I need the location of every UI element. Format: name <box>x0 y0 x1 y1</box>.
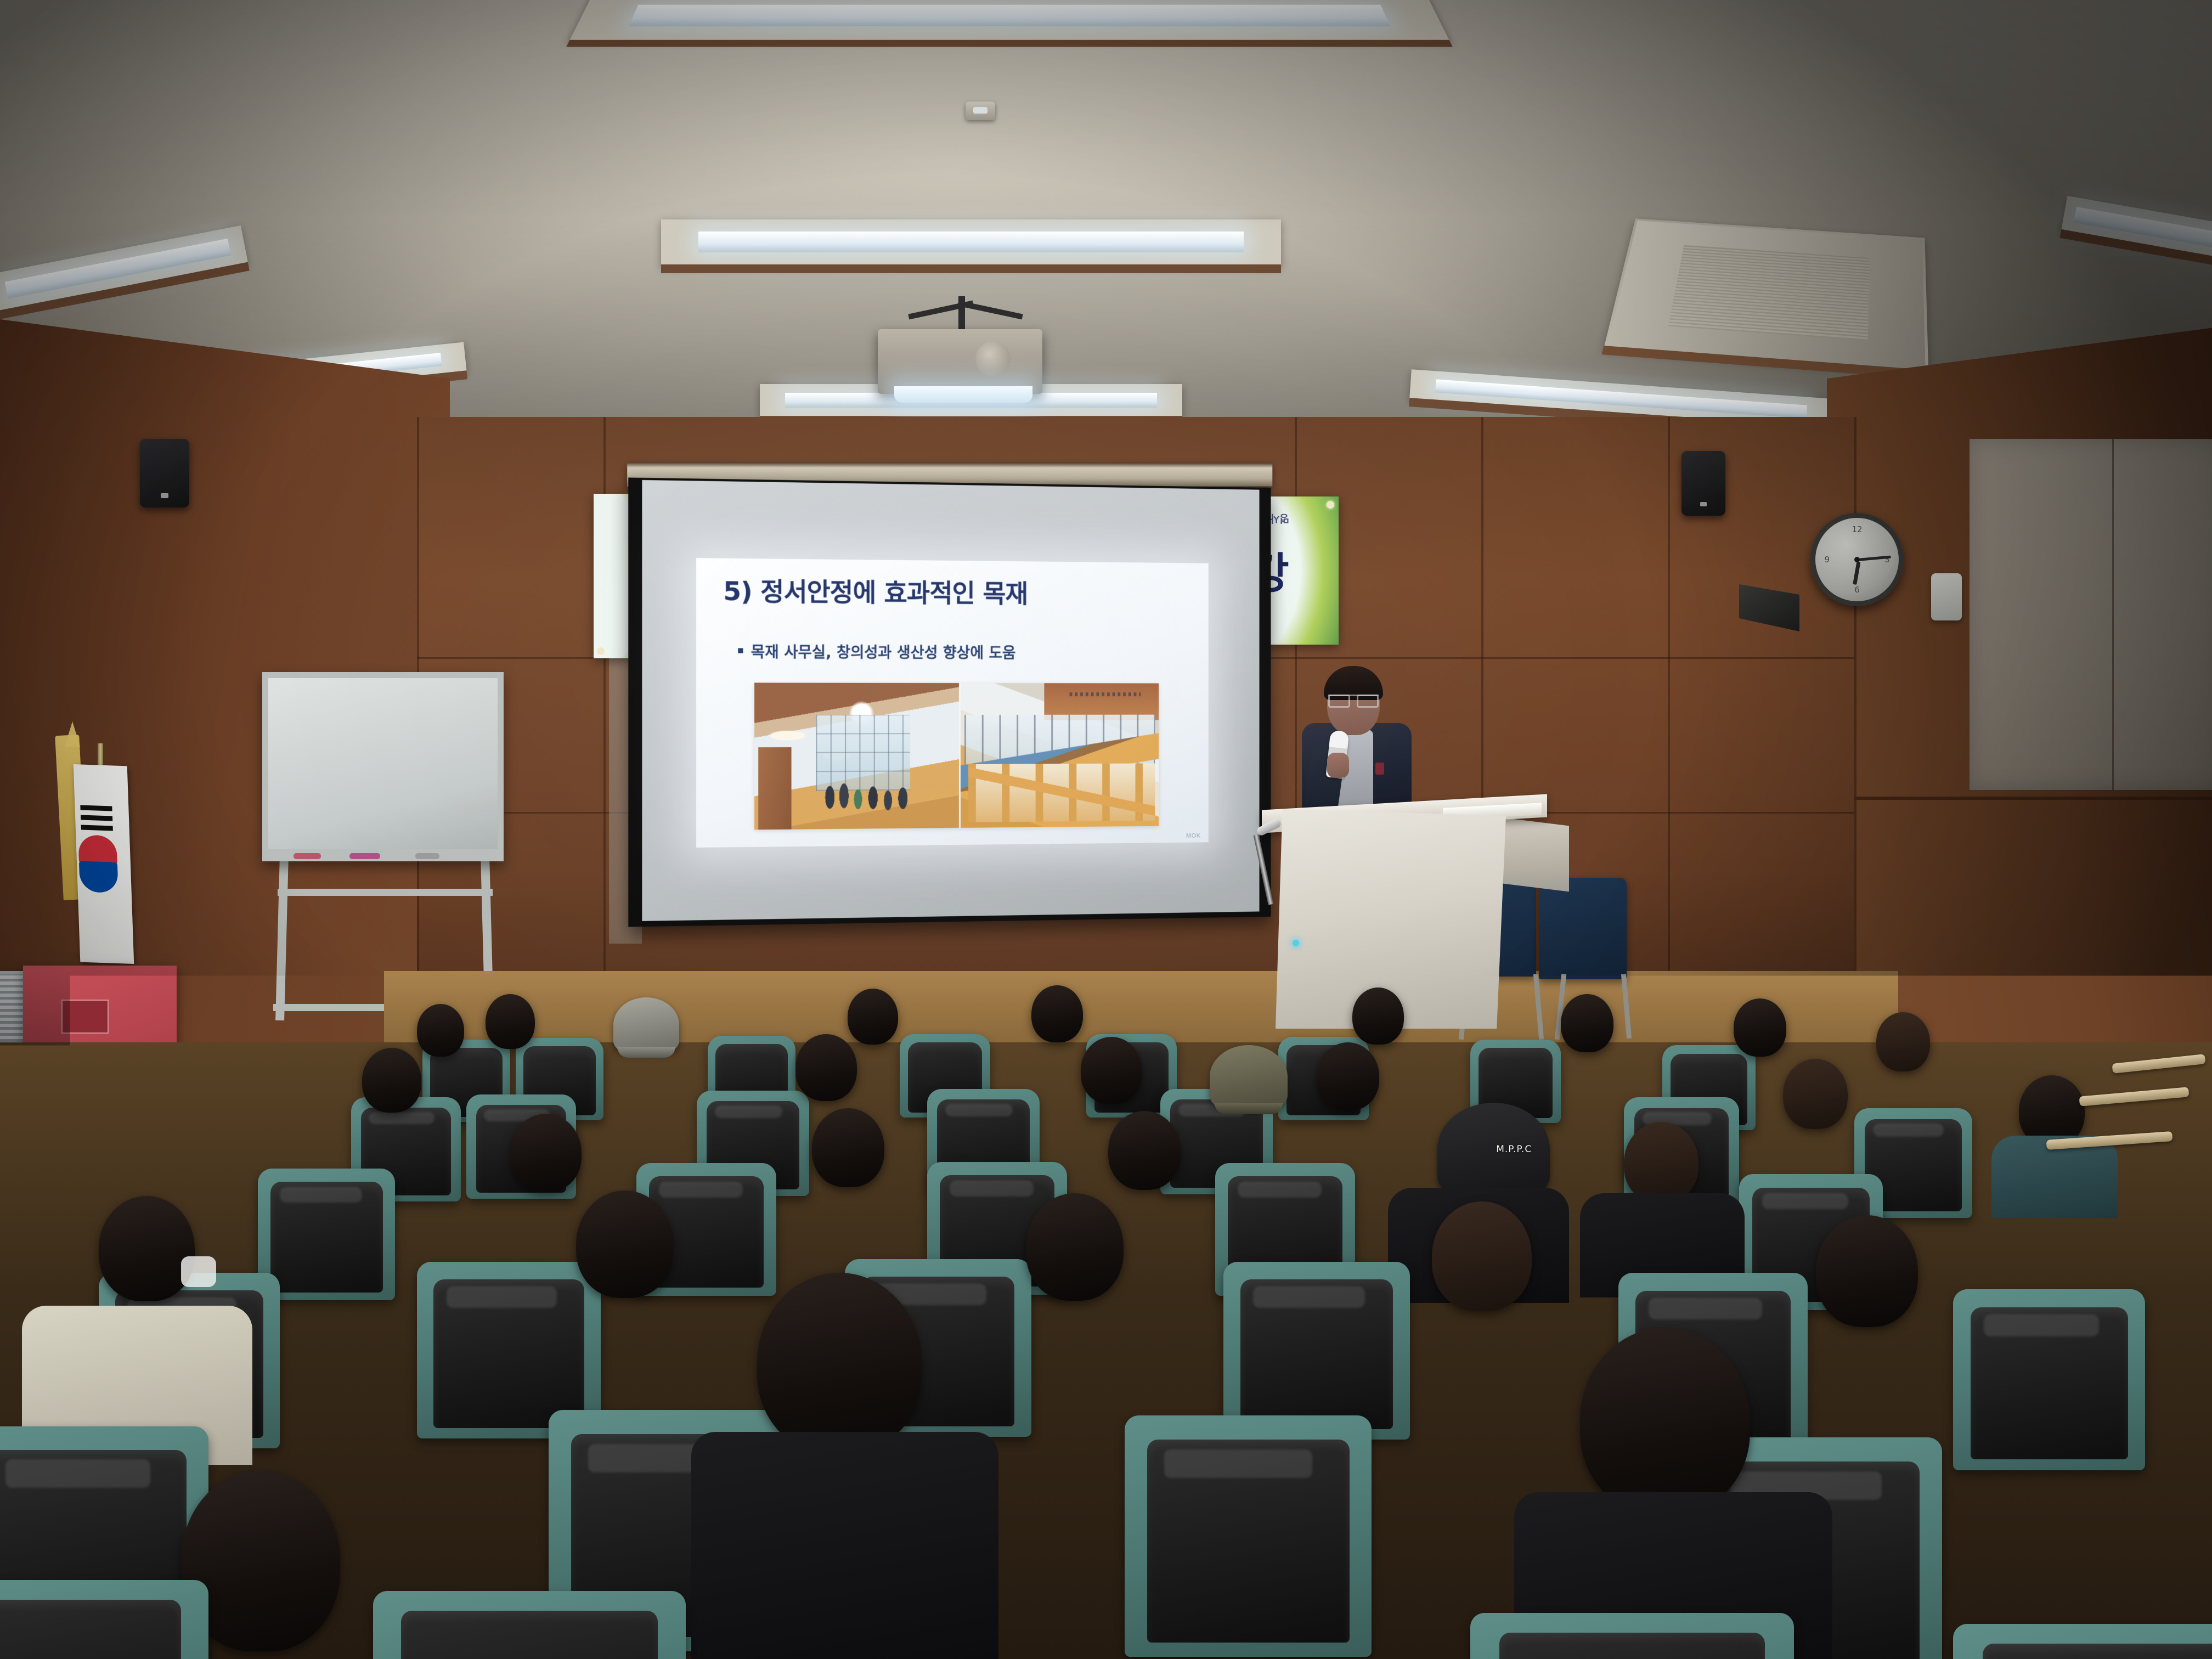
whiteboard-marker-grey[interactable] <box>415 853 439 859</box>
photo-timber-beams <box>968 763 1155 822</box>
audience-head <box>576 1190 674 1298</box>
ceiling-projector <box>878 329 1042 394</box>
projector-lens <box>975 341 1011 376</box>
slide-photo-wooden-atrium <box>754 682 959 830</box>
audience-head <box>1561 994 1613 1052</box>
slide-photo-wooden-mezzanine <box>961 683 1159 828</box>
audience-cap-olive <box>1210 1045 1288 1109</box>
audience-head <box>812 1108 884 1187</box>
projection-screen-surface: 5) 정서안정에 효과적인 목재 목재 사무실, 창의성과 생산성 향상에 도움 <box>642 480 1259 921</box>
audience-cap-mppc: M.P.P.C <box>1437 1103 1550 1196</box>
seat[interactable] <box>0 1580 208 1659</box>
audience-cap-grey <box>613 997 679 1052</box>
flag-trigram-bar <box>81 815 112 821</box>
audience-head <box>795 1034 857 1101</box>
audience-head <box>417 1004 464 1057</box>
clock-hour-hand <box>1853 561 1860 585</box>
audience-head <box>1081 1037 1142 1104</box>
audience-head <box>1783 1059 1848 1129</box>
fluorescent-tube <box>698 232 1244 252</box>
seat[interactable] <box>1953 1624 2212 1659</box>
seat[interactable] <box>373 1591 686 1659</box>
clock-number: 9 <box>1824 555 1830 565</box>
ceiling-air-vent-right <box>1604 218 1928 374</box>
smoke-detector <box>966 101 995 120</box>
vent-grille <box>1668 245 1870 341</box>
slide-title: 5) 정서안정에 효과적인 목재 <box>723 578 1194 607</box>
stage-chair-right[interactable] <box>1539 878 1627 979</box>
seat[interactable] <box>1223 1262 1410 1440</box>
audience-head-front-center <box>757 1273 922 1454</box>
mobile-whiteboard[interactable] <box>262 672 504 861</box>
ceiling-light-fixture-center <box>661 219 1281 267</box>
slide-credit-text: MOK <box>1186 833 1201 839</box>
audience-head <box>1624 1122 1699 1203</box>
flag-taeguk-red <box>78 834 117 865</box>
fixture-wood-trim <box>566 40 1453 47</box>
audience-head <box>486 994 535 1049</box>
light-switch-panel[interactable] <box>1931 573 1962 620</box>
cabinet-label <box>61 1000 109 1034</box>
audience-head <box>1317 1042 1379 1110</box>
audience-head <box>362 1048 421 1113</box>
lecture-hall-photo: 12 3 6 9 강 명사특강 5) 정서안정에 효과적인 목재 목재 사무실,… <box>0 0 2212 1659</box>
bullet-dot-icon <box>738 648 743 653</box>
wall-speaker-right <box>1681 451 1725 516</box>
banner-pin <box>597 647 605 655</box>
podium-indicator-led <box>1293 940 1299 946</box>
whiteboard-marker-magenta[interactable] <box>349 853 380 859</box>
wall-speaker-left <box>140 439 189 507</box>
whiteboard-marker-red[interactable] <box>294 853 321 859</box>
clock-center-pin <box>1854 557 1860 562</box>
right-wall-light-panel <box>1970 439 2212 790</box>
audience-head <box>1352 988 1404 1045</box>
projector-light-beam <box>894 386 1032 403</box>
projected-slide: 5) 정서안정에 효과적인 목재 목재 사무실, 창의성과 생산성 향상에 도움 <box>696 558 1209 848</box>
audience-head-front-right <box>1580 1328 1750 1514</box>
audience-head <box>1031 985 1083 1042</box>
cap-brim <box>1215 1103 1283 1114</box>
clock-number: 12 <box>1852 524 1862 534</box>
light-panel-seam <box>2112 439 2114 790</box>
south-korea-taegukgi-flag <box>74 764 134 964</box>
clock-number: 6 <box>1854 585 1860 595</box>
wainscot-line <box>1854 797 2212 800</box>
wall-clock: 12 3 6 9 <box>1810 513 1904 606</box>
audience-head <box>1876 1012 1930 1071</box>
fluorescent-tube <box>629 5 1391 26</box>
photo-people-group <box>820 776 914 811</box>
flag-trigram-bar <box>80 805 112 811</box>
audience-head <box>848 989 898 1045</box>
pull-down-projection-screen: 5) 정서안정에 효과적인 목재 목재 사무실, 창의성과 생산성 향상에 도움 <box>628 477 1271 927</box>
cap-logo-text: M.P.P.C <box>1496 1144 1532 1155</box>
audience-head <box>1026 1193 1124 1301</box>
presenter-hand <box>1327 753 1349 778</box>
slide-photo-group <box>754 682 1159 830</box>
banner-pin <box>1327 501 1334 509</box>
audience-head <box>1108 1111 1181 1190</box>
wall-panel-seam <box>1668 417 1670 1064</box>
audience-head <box>1734 998 1786 1057</box>
face-mask <box>181 1256 216 1287</box>
presenter-glasses <box>1328 695 1379 703</box>
cap-brim <box>617 1047 675 1058</box>
audience-head <box>1432 1201 1532 1311</box>
presenter-lapel-badge <box>1375 763 1384 775</box>
seat[interactable] <box>1470 1613 1794 1659</box>
flag-trigram-bar <box>81 825 113 831</box>
fixture-wood-trim <box>661 264 1281 273</box>
slide-bullet-text: 목재 사무실, 창의성과 생산성 향상에 도움 <box>751 640 1016 662</box>
seat[interactable] <box>1953 1289 2145 1470</box>
photo-wood-column <box>758 747 791 830</box>
audience-head <box>99 1196 195 1301</box>
whiteboard-stand-crossbar-upper <box>278 889 493 896</box>
flag-taeguk-blue <box>79 861 119 893</box>
audience-head <box>1816 1215 1918 1327</box>
slide-bullet-item: 목재 사무실, 창의성과 생산성 향상에 도움 <box>738 640 1195 663</box>
ceiling-light-fixture-top-center <box>569 0 1450 42</box>
audience-head <box>510 1114 582 1192</box>
seat[interactable] <box>933 1602 1251 1659</box>
presenter <box>1292 670 1418 824</box>
